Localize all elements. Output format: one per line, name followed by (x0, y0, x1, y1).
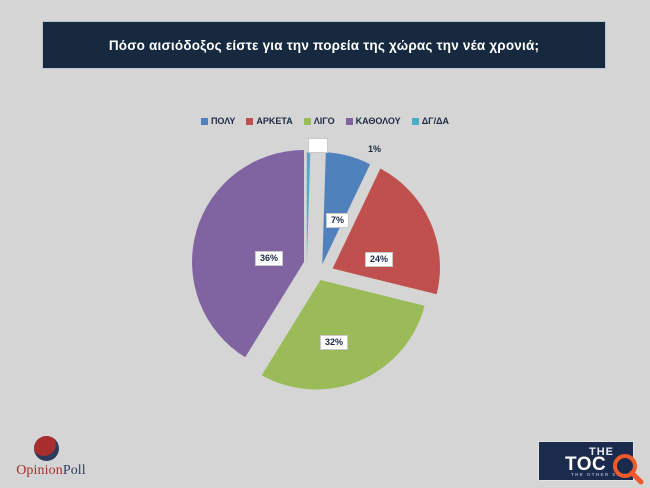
pie-chart-svg (175, 132, 465, 407)
legend-item-arketa: ΑΡΚΕΤΑ (246, 116, 292, 126)
data-label-dg-da-box (308, 138, 328, 153)
legend-label-dg-da: ΔΓ/ΔΑ (422, 116, 449, 126)
legend-swatch-arketa (246, 118, 253, 125)
legend-item-ligo: ΛΙΓΟ (304, 116, 335, 126)
legend-label-katholou: ΚΑΘΟΛΟΥ (356, 116, 401, 126)
data-label-arketa: 24% (365, 252, 393, 267)
data-label-ligo: 32% (320, 335, 348, 350)
page-title: Πόσο αισιόδοξος είστε για την πορεία της… (95, 38, 553, 53)
legend-label-polu: ΠΟΛΥ (211, 116, 235, 126)
opinionpoll-word-poll: Poll (63, 463, 86, 478)
pie-slice-dg-da[interactable] (307, 152, 311, 264)
legend-item-dg-da: ΔΓ/ΔΑ (412, 116, 449, 126)
chart-legend: ΠΟΛΥ ΑΡΚΕΤΑ ΛΙΓΟ ΚΑΘΟΛΟΥ ΔΓ/ΔΑ (0, 116, 650, 126)
data-label-polu: 7% (326, 213, 349, 228)
opinionpoll-logo: OpinionPoll (8, 436, 94, 482)
opinionpoll-mark-icon (34, 436, 59, 461)
slide-canvas: Πόσο αισιόδοξος είστε για την πορεία της… (0, 0, 650, 488)
legend-swatch-ligo (304, 118, 311, 125)
magnifier-icon-svg (612, 453, 644, 485)
legend-item-katholou: ΚΑΘΟΛΟΥ (346, 116, 401, 126)
slide-title-bar: Πόσο αισιόδοξος είστε για την πορεία της… (42, 21, 606, 69)
legend-swatch-katholou (346, 118, 353, 125)
data-label-dg-da: 1% (364, 143, 385, 156)
legend-label-ligo: ΛΙΓΟ (314, 116, 335, 126)
data-label-katholou: 36% (255, 251, 283, 266)
legend-swatch-dg-da (412, 118, 419, 125)
magnifier-zoom-icon[interactable] (612, 453, 644, 485)
pie-slice-katholou[interactable] (192, 150, 304, 357)
legend-item-polu: ΠΟΛΥ (201, 116, 235, 126)
legend-label-arketa: ΑΡΚΕΤΑ (256, 116, 292, 126)
legend-swatch-polu (201, 118, 208, 125)
opinionpoll-wordmark: OpinionPoll (8, 463, 94, 479)
pie-chart: 1% 7% 24% 32% 36% (175, 132, 465, 407)
opinionpoll-word-opinion: Opinion (16, 463, 63, 478)
